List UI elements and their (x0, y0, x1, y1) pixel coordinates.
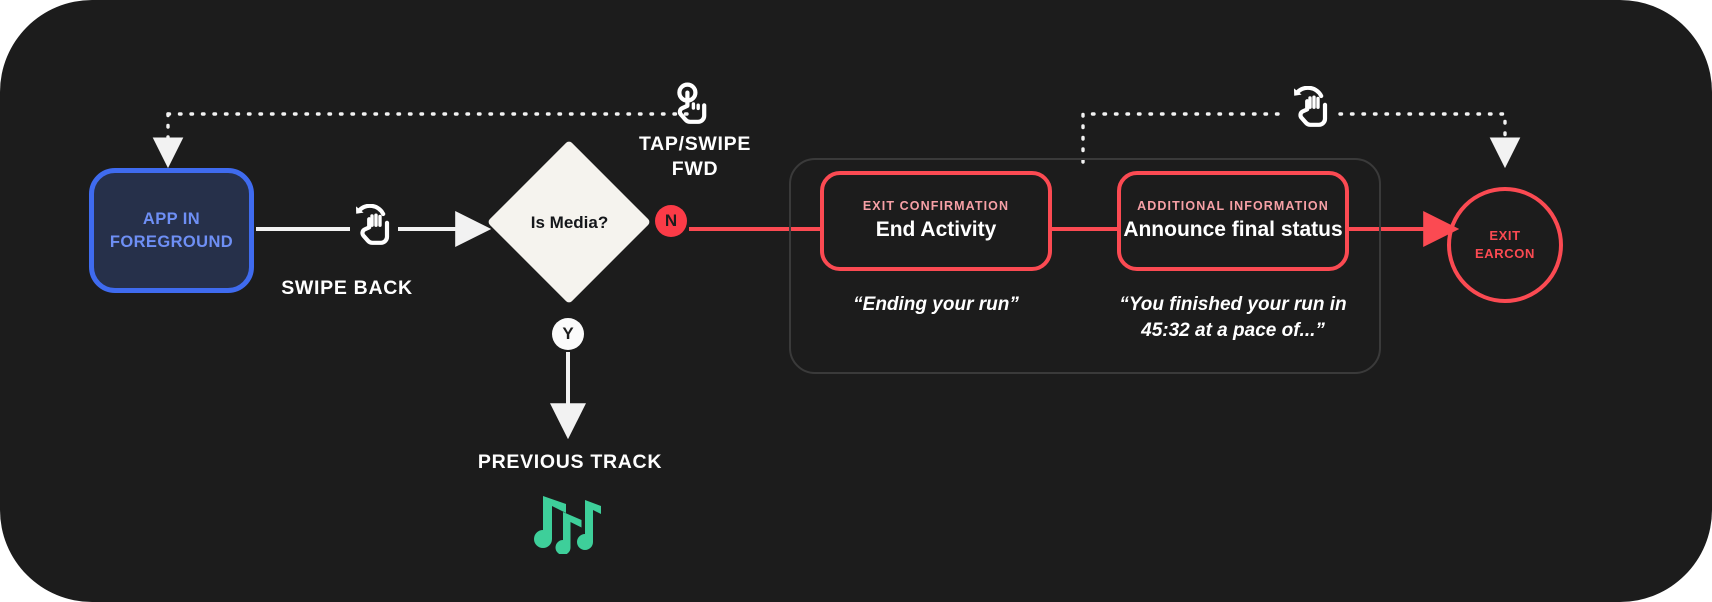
label-tap-swipe-fwd: TAP/SWIPE FWD (595, 132, 795, 182)
node-app-in-foreground[interactable]: APP IN FOREGROUND (89, 168, 254, 293)
card-2-quote: “You finished your run in 45:32 at a pac… (1110, 292, 1356, 343)
diagram-canvas: APP IN FOREGROUND SWIPE BACK Is Media? N… (0, 0, 1712, 602)
card-additional-information[interactable]: ADDITIONAL INFORMATION Announce final st… (1117, 171, 1349, 271)
card-2-eyebrow: ADDITIONAL INFORMATION (1137, 199, 1329, 213)
label-previous-track: PREVIOUS TRACK (420, 450, 720, 475)
label-swipe-back: SWIPE BACK (237, 276, 457, 301)
card-1-title: End Activity (876, 217, 997, 242)
tap-gesture-icon (665, 82, 713, 135)
badge-yes: Y (552, 318, 584, 350)
tap-swipe-line2: FWD (595, 157, 795, 182)
card-1-eyebrow: EXIT CONFIRMATION (863, 199, 1009, 213)
card-2-title: Announce final status (1123, 217, 1342, 242)
node-app-in-foreground-label: APP IN FOREGROUND (110, 208, 233, 253)
badge-no: N (655, 205, 687, 237)
music-notes-icon (533, 492, 603, 559)
card-exit-confirmation[interactable]: EXIT CONFIRMATION End Activity (820, 171, 1052, 271)
app-label-line1: APP IN (110, 208, 233, 230)
tap-swipe-line1: TAP/SWIPE (595, 132, 795, 157)
card-1-quote: “Ending your run” (820, 292, 1052, 318)
earcon-line1: EXIT (1475, 227, 1535, 245)
app-label-line2: FOREGROUND (110, 231, 233, 253)
swipe-back-gesture-icon-right (1288, 86, 1336, 139)
swipe-back-gesture-icon (350, 204, 398, 257)
node-exit-earcon[interactable]: EXIT EARCON (1447, 187, 1563, 303)
earcon-line2: EARCON (1475, 245, 1535, 263)
